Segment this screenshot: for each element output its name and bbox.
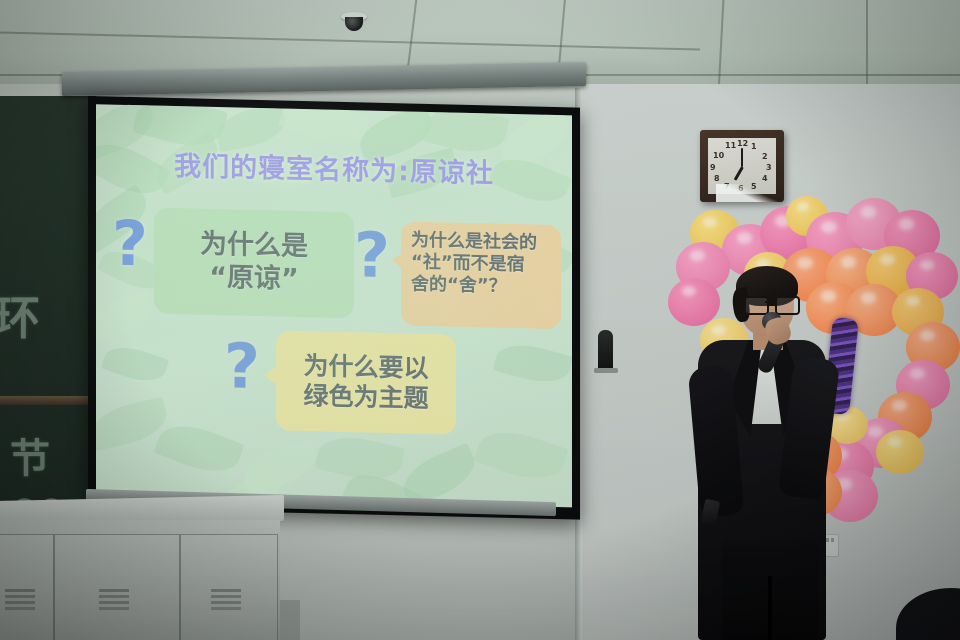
question-mark-icon: ?	[224, 335, 260, 398]
clock-numeral: 12	[737, 139, 748, 148]
clock-numeral: 11	[725, 141, 736, 150]
bubble-line: “原谅”	[209, 262, 299, 297]
blackboard-chalk-text-lower: 节	[10, 426, 50, 484]
bubble-line: 为什么是	[200, 229, 308, 264]
glasses-lens-left	[744, 296, 769, 315]
slide-bubble-society: 为什么是社会的 “社”而不是宿 舍的“舍”？	[401, 221, 561, 329]
presenter-trouser-seam	[768, 576, 772, 640]
ceiling-grid-line	[866, 0, 868, 96]
clock-numeral: 1	[751, 142, 757, 151]
slide-canvas: 我们的寝室名称为:原谅社 ? ? ? 为什么是 “原谅” 为什么是社会的 “社”…	[96, 104, 572, 507]
leaf-decoration	[96, 290, 158, 345]
balloon	[876, 430, 924, 474]
clock-hour-hand	[734, 166, 744, 180]
clock-numeral: 2	[762, 152, 768, 161]
glasses-lens-right	[775, 296, 800, 315]
slide-bubble-forgive: 为什么是 “原谅”	[154, 208, 354, 319]
clock-minute-hand	[741, 148, 743, 167]
blackboard: 环 节	[0, 96, 96, 516]
leaf-decoration	[493, 337, 572, 389]
cabinet-door[interactable]	[0, 534, 54, 640]
bubble-line: 舍的“舍”？	[411, 274, 553, 299]
bubble-line: 绿色为主题	[303, 381, 428, 414]
balloon	[668, 278, 720, 326]
clock-numeral: 8	[714, 174, 720, 183]
wall-fixture-bracket	[594, 368, 618, 373]
question-mark-icon: ?	[112, 213, 148, 276]
leaf-decoration	[101, 340, 169, 389]
leaf-decoration	[154, 415, 245, 482]
projector-screen: 我们的寝室名称为:原谅社 ? ? ? 为什么是 “原谅” 为什么是社会的 “社”…	[88, 96, 580, 520]
cabinet-door[interactable]	[54, 534, 180, 640]
chalk-rail	[0, 396, 92, 405]
clock-numeral: 4	[762, 174, 768, 183]
clock-glass-reflection	[716, 184, 784, 202]
wall-clock: 12 1 2 3 4 5 6 7 8 9 10 11	[700, 130, 784, 202]
slide-bubble-green-theme: 为什么要以 绿色为主题	[276, 330, 456, 434]
clock-numeral: 3	[766, 163, 772, 172]
clock-numeral: 9	[710, 163, 716, 172]
cabinet-door[interactable]	[180, 534, 278, 640]
question-mark-icon: ?	[354, 224, 390, 287]
bubble-line: “社”而不是宿	[411, 252, 553, 277]
clock-numeral: 10	[713, 151, 724, 160]
photo-scene: 环 节 12 1 2 3 4 5 6 7 8 9 10 11	[0, 0, 960, 640]
wall-mounted-fixture	[598, 330, 613, 370]
leaf-decoration	[474, 421, 569, 489]
bubble-line: 为什么要以	[303, 351, 428, 384]
blackboard-chalk-text-upper: 环	[0, 282, 42, 348]
clock-face: 12 1 2 3 4 5 6 7 8 9 10 11	[708, 138, 776, 194]
cabinet-body	[0, 520, 280, 640]
glasses-bridge	[765, 301, 775, 303]
glasses-icon	[744, 296, 796, 311]
